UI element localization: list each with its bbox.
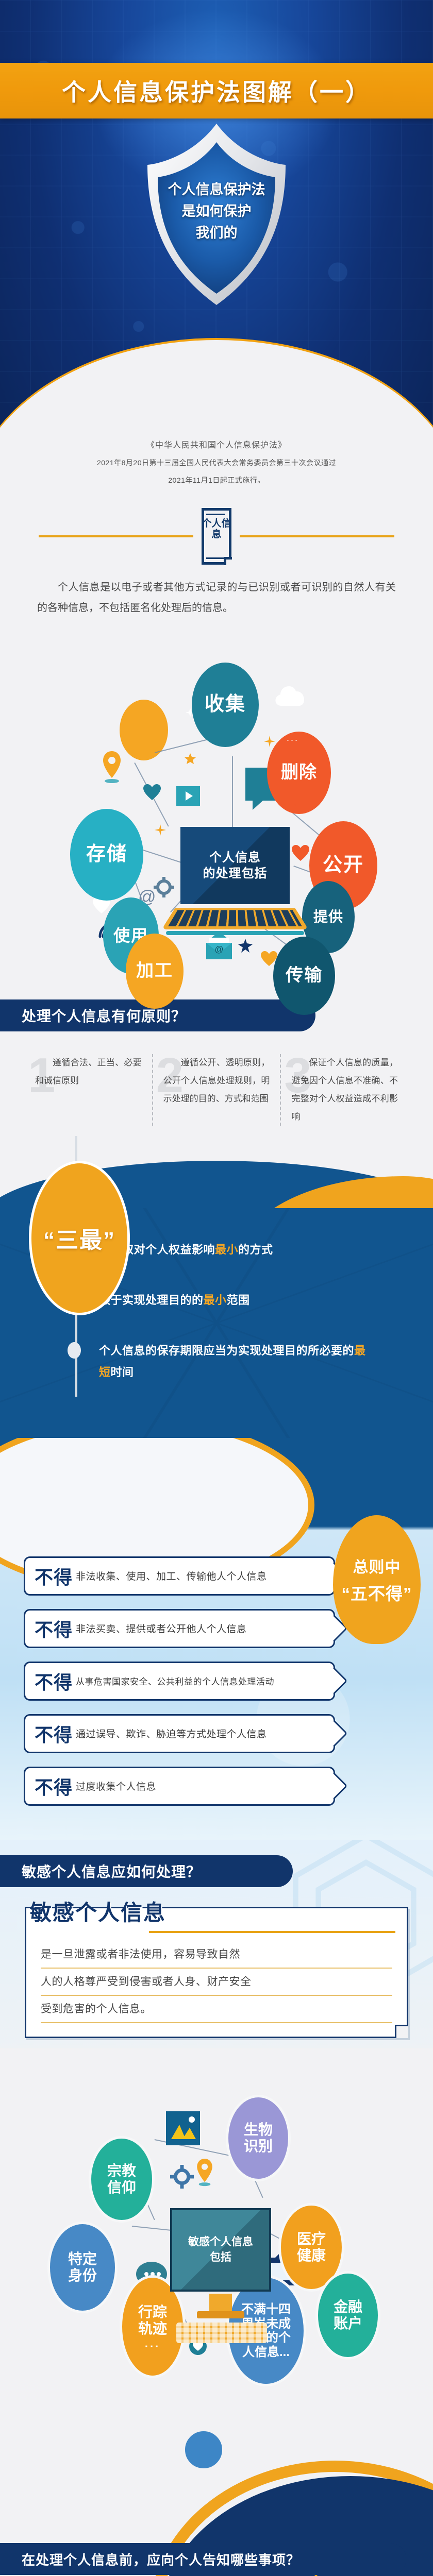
sensitive-heading-text: 敏感个人信息应如何处理？ — [22, 1861, 201, 1882]
prohibition-row: 不得 从事危害国家安全、公共利益的个人信息处理活动 — [24, 1662, 335, 1701]
timeline-dot — [68, 1342, 81, 1359]
principles-columns: 1 遵循合法、正当、必要和诚信原则 2 遵循公开、透明原则，公开个人信息处理规则… — [0, 1037, 433, 1146]
law-name: 《中华人民共和国个人信息保护法》 — [0, 438, 433, 450]
location-pin-icon — [103, 751, 121, 783]
prohibition-prefix: 不得 — [35, 1773, 73, 1800]
svg-text:@: @ — [214, 944, 223, 954]
three-most-text: 应采取对个人权益影响最小的方式 — [99, 1239, 377, 1261]
prohibition-prefix: 不得 — [35, 1720, 73, 1747]
shield-line-2: 是如何保护 — [139, 201, 294, 223]
star-icon — [238, 939, 253, 953]
bubble-process: 加工 — [126, 934, 184, 1009]
category-financial-account: 金融 账户 — [315, 2271, 380, 2360]
sensitive-card-title: 敏感个人信息 — [30, 1895, 166, 1927]
keyboard-icon — [176, 2323, 267, 2343]
sensitive-heading: 敏感个人信息应如何处理？ — [0, 1855, 293, 1887]
prohibition-text: 非法收集、使用、加工、传输他人个人信息 — [76, 1569, 267, 1583]
prohibition-prefix: 不得 — [35, 1615, 73, 1642]
badge-line-1: 总则中 — [353, 1554, 401, 1577]
principles-heading-wrap: 处理个人信息有何原则？ — [0, 984, 433, 1037]
notify-section: 在处理个人信息前，应向个人告知哪些事项？ 个人信息处理者的名称或者姓名和联系方式… — [0, 2414, 433, 2576]
three-most-section: “三最” 应采取对个人权益影响最小的方式 限于实现处理目的的最小范围 个人信息的… — [0, 1146, 433, 1437]
principles-section: 处理个人信息有何原则？ 1 遵循合法、正当、必要和诚信原则 2 遵循公开、透明原… — [0, 984, 433, 1146]
sensitive-card-line: 人的人格尊严受到侵害或者人身、财产安全 — [41, 1969, 392, 1996]
notify-heading-text: 在处理个人信息前，应向个人告知哪些事项？ — [22, 2550, 300, 2569]
laptop-screen: 个人信息 的处理包括 — [180, 827, 290, 904]
laptop-strip — [166, 931, 304, 935]
three-most-item: 个人信息的保存期限应当为实现处理目的所必要的最短时间 — [77, 1340, 433, 1383]
prohibition-row: 不得 通过误导、欺诈、胁迫等方式处理个人信息 — [24, 1714, 335, 1753]
laptop-base — [162, 908, 308, 929]
three-most-text: 限于实现处理目的的最小范围 — [99, 1290, 377, 1311]
law-reference-block: 《中华人民共和国个人信息保护法》 2021年8月20日第十三届全国人民代表大会常… — [0, 438, 433, 485]
card-rule — [149, 1931, 395, 1933]
play-video-icon — [176, 786, 200, 806]
sparkle-icon — [155, 824, 166, 836]
prohibition-row: 不得 非法买卖、提供或者公开他人个人信息 — [24, 1609, 335, 1648]
document-icon: 个人信息 — [202, 508, 231, 565]
sensitive-card-line: 是一旦泄露或者非法使用，容易导致自然 — [41, 1941, 392, 1969]
five-prohibitions-section: 总则中 “五不得” 不得 非法收集、使用、加工、传输他人个人信息 不得 非法买卖… — [0, 1438, 433, 1840]
three-most-body: “三最” 应采取对个人权益影响最小的方式 限于实现处理目的的最小范围 个人信息的… — [0, 1208, 433, 1437]
prohibition-prefix: 不得 — [35, 1563, 73, 1589]
prohibition-text: 过度收集个人信息 — [76, 1779, 156, 1793]
monitor-foot — [197, 2311, 244, 2318]
principle-column: 2 遵循公开、透明原则，公开个人信息处理规则，明示处理的目的、方式和范围 — [152, 1054, 280, 1126]
shield-line-1: 个人信息保护法 — [139, 179, 294, 201]
prohibition-text: 非法买卖、提供或者公开他人个人信息 — [76, 1621, 247, 1635]
shield-line-3: 我们的 — [139, 223, 294, 244]
gear-icon — [170, 2165, 194, 2189]
monitor-icon: 敏感个人信息 包括 — [170, 2208, 271, 2292]
principle-text: 遵循合法、正当、必要和诚信原则 — [35, 1054, 142, 1090]
bubble-transmit: 传输 — [273, 937, 335, 1015]
cloud-icon — [272, 679, 308, 708]
law-effective-line: 2021年11月1日起正式施行。 — [0, 475, 433, 485]
sensitive-card-wrap: 敏感个人信息 是一旦泄露或者非法使用，容易导致自然 人的人格尊严受到侵害或者人身… — [0, 1892, 433, 2049]
monitor-screen: 敏感个人信息 包括 — [170, 2208, 271, 2292]
divider-rule-right — [240, 535, 394, 537]
heart-icon — [143, 784, 161, 801]
bubble-store: 存储 — [70, 809, 143, 901]
law-passed-line: 2021年8月20日第十三届全国人民代表大会常务委员会第三十次会议通过 — [0, 457, 433, 468]
prohibition-prefix: 不得 — [35, 1668, 73, 1694]
category-specific-identity: 特定 身份 — [47, 2222, 118, 2313]
divider-rule-left — [39, 535, 193, 537]
category-biometric: 生物 识别 — [226, 2095, 291, 2181]
hero-banner: 个人信息保护法图解（一） 个人信息保护法 是如何保护 我们的 — [0, 0, 433, 495]
three-most-badge: “三最” — [29, 1161, 130, 1315]
center-label-line-1: 个人信息 — [209, 850, 261, 866]
processing-diagram: @ @ 收集 删除 — [0, 623, 433, 984]
sensitive-center-line-2: 包括 — [210, 2250, 231, 2265]
infographic-page: 个人信息保护法图解（一） 个人信息保护法 是如何保护 我们的 — [0, 0, 433, 2576]
shield-text: 个人信息保护法 是如何保护 我们的 — [139, 179, 294, 244]
category-religion: 宗教 信仰 — [89, 2136, 155, 2223]
notify-heading-wrap: 在处理个人信息前，应向个人告知哪些事项？ — [0, 2543, 433, 2575]
sensitive-card-line: 受到危害的个人信息。 — [41, 1996, 392, 2023]
principle-column: 3 保证个人信息的质量，避免因个人信息不准确、不完整对个人权益造成不利影响 — [280, 1054, 408, 1126]
laptop-icon: 个人信息 的处理包括 — [180, 827, 290, 904]
principle-text: 遵循公开、透明原则，公开个人信息处理规则，明示处理的目的、方式和范围 — [163, 1054, 270, 1108]
bubble-collect: 收集 — [192, 663, 259, 747]
three-most-item: 应采取对个人权益影响最小的方式 — [77, 1239, 433, 1261]
star-icon — [185, 753, 196, 765]
monitor-neck — [209, 2294, 232, 2313]
gear-icon — [154, 877, 174, 897]
prohibition-text: 从事危害国家安全、公共利益的个人信息处理活动 — [76, 1674, 274, 1687]
sensitive-heading-wrap: 敏感个人信息应如何处理？ — [0, 1840, 433, 1892]
sensitive-info-section: 敏感个人信息应如何处理？ 敏感个人信息 是一旦泄露或者非法使用，容易导致自然 人… — [0, 1840, 433, 2415]
prohibition-text: 通过误导、欺诈、胁迫等方式处理个人信息 — [76, 1726, 267, 1740]
prohibition-row: 不得 过度收集个人信息 — [24, 1767, 335, 1806]
location-pin-icon — [197, 2159, 212, 2187]
center-label-line-2: 的处理包括 — [203, 866, 268, 882]
sensitive-center-line-1: 敏感个人信息 — [188, 2234, 253, 2250]
definition-paragraph: 个人信息是以电子或者其他方式记录的与已识别或者可识别的自然人有关的各种信息，不包… — [0, 568, 433, 623]
page-title: 个人信息保护法图解（一） — [62, 74, 371, 108]
principles-heading-text: 处理个人信息有何原则？ — [22, 1005, 186, 1026]
ellipsis-dots: ... — [282, 793, 298, 809]
ellipsis-dots: ... — [287, 733, 299, 743]
connector-line — [232, 756, 233, 834]
heart-icon — [292, 845, 309, 861]
definition-divider: 个人信息 — [0, 495, 433, 568]
card-dogear — [395, 2025, 408, 2038]
sparkle-icon — [264, 736, 275, 747]
definition-section: 个人信息 个人信息是以电子或者其他方式记录的与已识别或者可识别的自然人有关的各种… — [0, 495, 433, 623]
document-icon-label: 个人信息 — [202, 518, 231, 540]
principle-column: 1 遵循合法、正当、必要和诚信原则 — [25, 1054, 152, 1126]
bubble-delete: 删除 — [267, 732, 331, 814]
badge-line-2: “五不得” — [342, 1580, 412, 1605]
notify-heading: 在处理个人信息前，应向个人告知哪些事项？ — [0, 2543, 406, 2575]
principle-text: 保证个人信息的质量，避免因个人信息不准确、不完整对个人权益造成不利影响 — [291, 1054, 398, 1126]
three-most-text: 个人信息的保存期限应当为实现处理目的所必要的最短时间 — [99, 1340, 377, 1383]
mail-envelope-icon: @ — [203, 931, 235, 963]
sensitive-categories-diagram: 宗教 信仰 生物 识别 特定 身份 敏感个人信息 包括 — [0, 2048, 433, 2409]
prohibition-row: 不得 非法收集、使用、加工、传输他人个人信息 — [24, 1556, 335, 1596]
banner-title-band: 个人信息保护法图解（一） — [0, 63, 433, 118]
three-most-item: 限于实现处理目的的最小范围 — [77, 1290, 433, 1311]
image-photo-icon — [166, 2111, 200, 2145]
